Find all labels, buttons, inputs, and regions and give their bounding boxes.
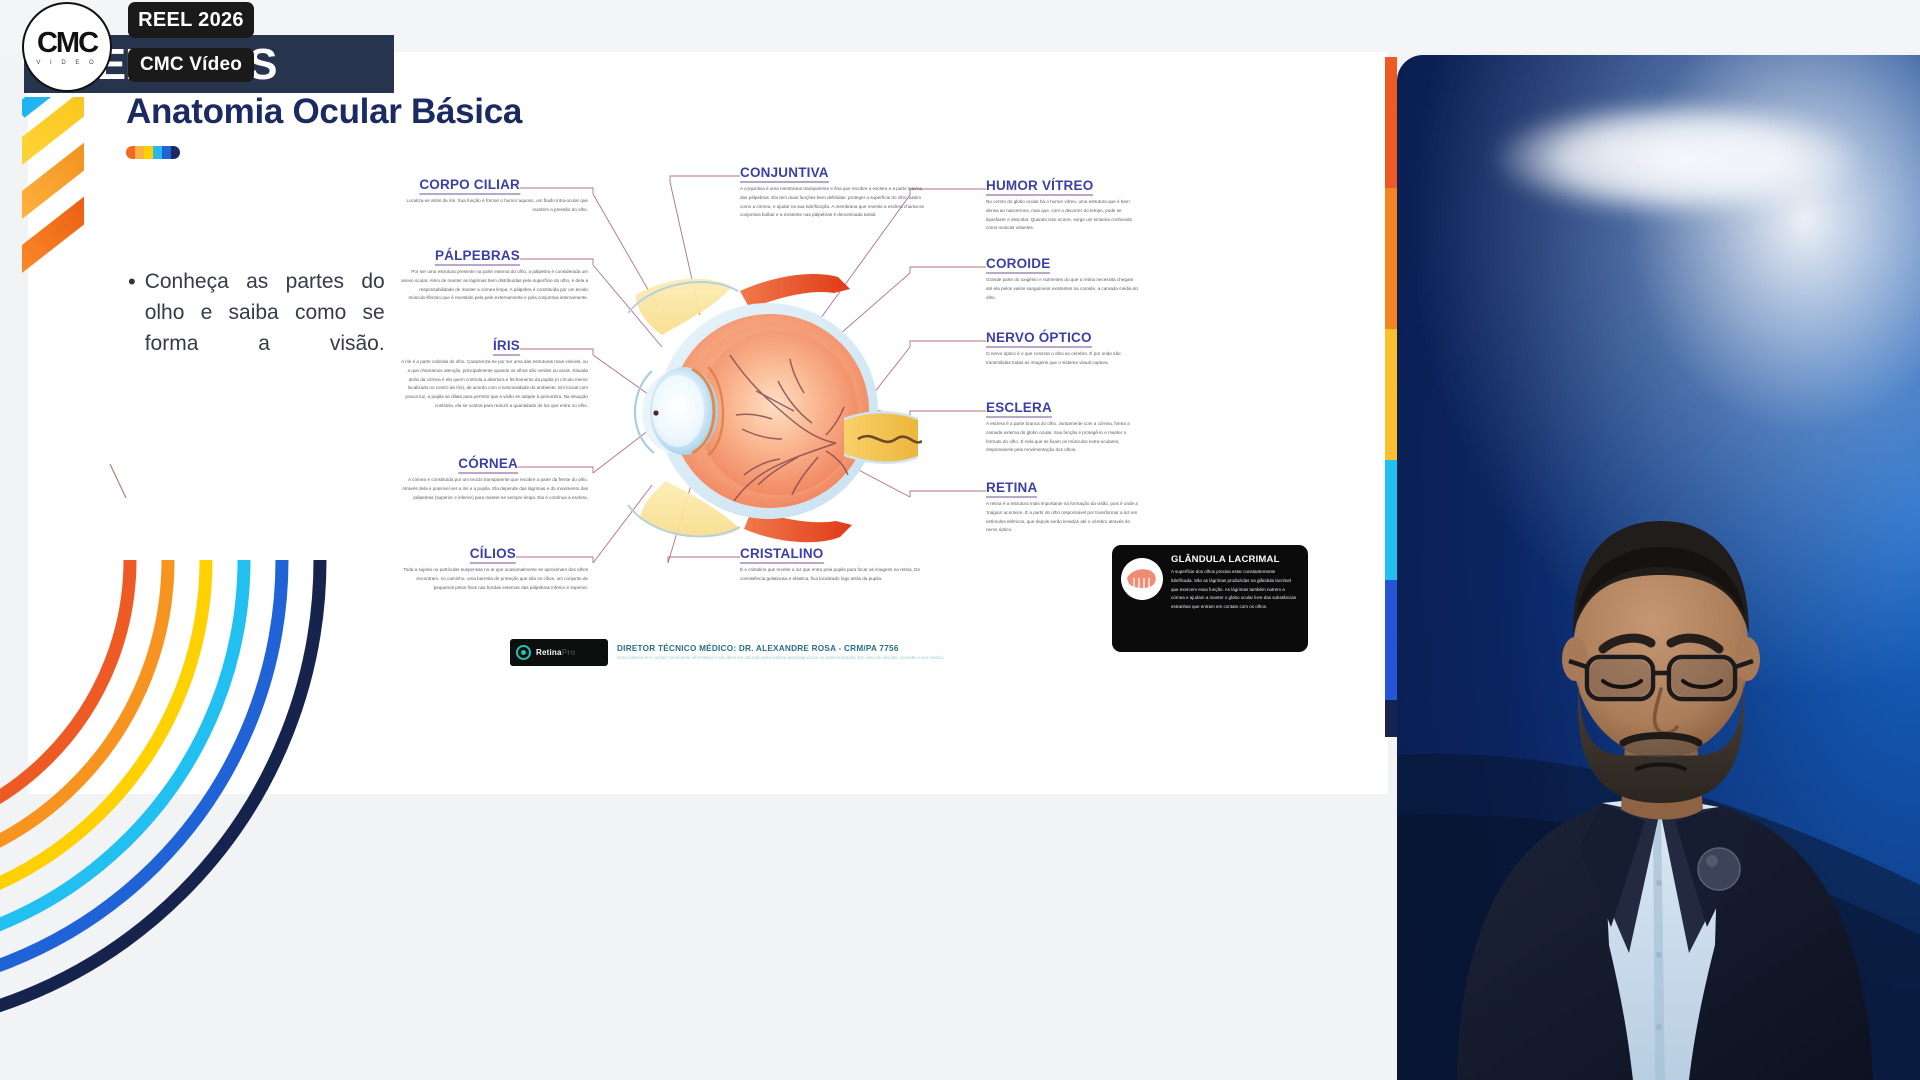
lacrimal-card-title: GLÂNDULA LACRIMAL bbox=[1171, 554, 1298, 565]
desc-palpebras: Por ser uma estrutura presente na parte … bbox=[400, 268, 588, 303]
reel-badge[interactable]: REEL 2026 bbox=[128, 2, 254, 38]
eye-anatomy-illustration bbox=[622, 243, 922, 573]
bullet-text: Conheça as partes do olho e saiba como s… bbox=[145, 266, 385, 359]
label-nervo-optico: NERVO ÓPTICO bbox=[986, 330, 1092, 348]
desc-nervo-optico: O nervo óptico é o que conecta o olho ao… bbox=[986, 350, 1138, 368]
video-feed-panel[interactable]: eyecare academy bbox=[1397, 55, 1920, 1080]
cmc-logo[interactable]: CMC V I D E O bbox=[22, 2, 112, 92]
label-iris: ÍRIS bbox=[493, 338, 520, 356]
cmc-logo-subtext: V I D E O bbox=[36, 60, 97, 66]
desc-esclera: A esclera é a parte branca do olho. Junt… bbox=[986, 420, 1138, 455]
decorative-arcs bbox=[0, 560, 370, 1080]
desc-humor-vitreo: No centro do globo ocular há o humor vít… bbox=[986, 198, 1138, 233]
label-palpebras: PÁLPEBRAS bbox=[435, 248, 520, 266]
screen-root: Anatomia Ocular Básica • Conheça as part… bbox=[0, 0, 1920, 1080]
desc-cilios: Toda a sujeira ou partículas suspensas n… bbox=[400, 566, 588, 592]
label-esclera: ESCLERA bbox=[986, 400, 1052, 418]
retinapro-logo: RetinaPro bbox=[510, 639, 608, 666]
lacrimal-card-body: A superfície dos olhos precisa estar con… bbox=[1171, 568, 1298, 612]
footer-disclaimer: Esse material tem caráter meramente info… bbox=[617, 655, 1070, 660]
poster-footer: RetinaPro DIRETOR TÉCNICO MÉDICO: DR. AL… bbox=[510, 636, 1070, 668]
label-cornea: CÓRNEA bbox=[458, 456, 518, 474]
retinapro-ring-icon bbox=[516, 645, 531, 660]
retinapro-dot-icon bbox=[521, 650, 526, 655]
desc-iris: A íris é a parte colorida do olho. Carac… bbox=[400, 358, 588, 411]
accent-rail bbox=[1385, 57, 1397, 737]
lacrimal-gland-card: GLÂNDULA LACRIMAL A superfície dos olhos… bbox=[1112, 545, 1308, 652]
decorative-stripes bbox=[22, 97, 84, 307]
cmc-logo-text: CMC bbox=[37, 29, 97, 58]
title-accent-bar bbox=[126, 146, 180, 159]
stripe-cyan bbox=[22, 97, 51, 118]
lacrimal-gland-icon bbox=[1121, 558, 1163, 600]
desc-coroide: Grande parte do oxigênio e nutrientes do… bbox=[986, 276, 1138, 302]
desc-conjuntiva: A conjuntiva é uma membrana transparente… bbox=[740, 185, 930, 220]
label-cristalino: CRISTALINO bbox=[740, 546, 824, 564]
list-item: • Conheça as partes do olho e saiba como… bbox=[128, 266, 390, 359]
channel-badge[interactable]: CMC Vídeo bbox=[128, 48, 254, 82]
desc-cornea: A córnea é constituída por um tecido tra… bbox=[400, 476, 588, 502]
anatomy-poster: CORPO CILIAR Localiza-se atrás da íris. … bbox=[400, 155, 1140, 675]
desc-retina: A retina é a estrutura mais importante n… bbox=[986, 500, 1138, 535]
desc-cristalino: É o cristalino que recebe a luz que entr… bbox=[740, 566, 930, 584]
label-conjuntiva: CONJUNTIVA bbox=[740, 165, 829, 183]
footer-credit: DIRETOR TÉCNICO MÉDICO: DR. ALEXANDRE RO… bbox=[617, 644, 1070, 653]
label-coroide: COROIDE bbox=[986, 256, 1050, 274]
bullet-marker: • bbox=[128, 266, 136, 297]
label-retina: RETINA bbox=[986, 480, 1037, 498]
desc-corpo-ciliar: Localiza-se atrás da íris. Sua função é … bbox=[400, 197, 588, 215]
label-corpo-ciliar: CORPO CILIAR bbox=[419, 177, 520, 195]
page-title: Anatomia Ocular Básica bbox=[126, 92, 522, 132]
presenter-figure bbox=[1397, 55, 1920, 1080]
label-cilios: CÍLIOS bbox=[470, 546, 516, 564]
bullet-block: • Conheça as partes do olho e saiba como… bbox=[128, 266, 390, 359]
label-humor-vitreo: HUMOR VÍTREO bbox=[986, 178, 1093, 196]
retinapro-brand: RetinaPro bbox=[536, 648, 576, 657]
stray-pen-mark bbox=[108, 462, 130, 500]
